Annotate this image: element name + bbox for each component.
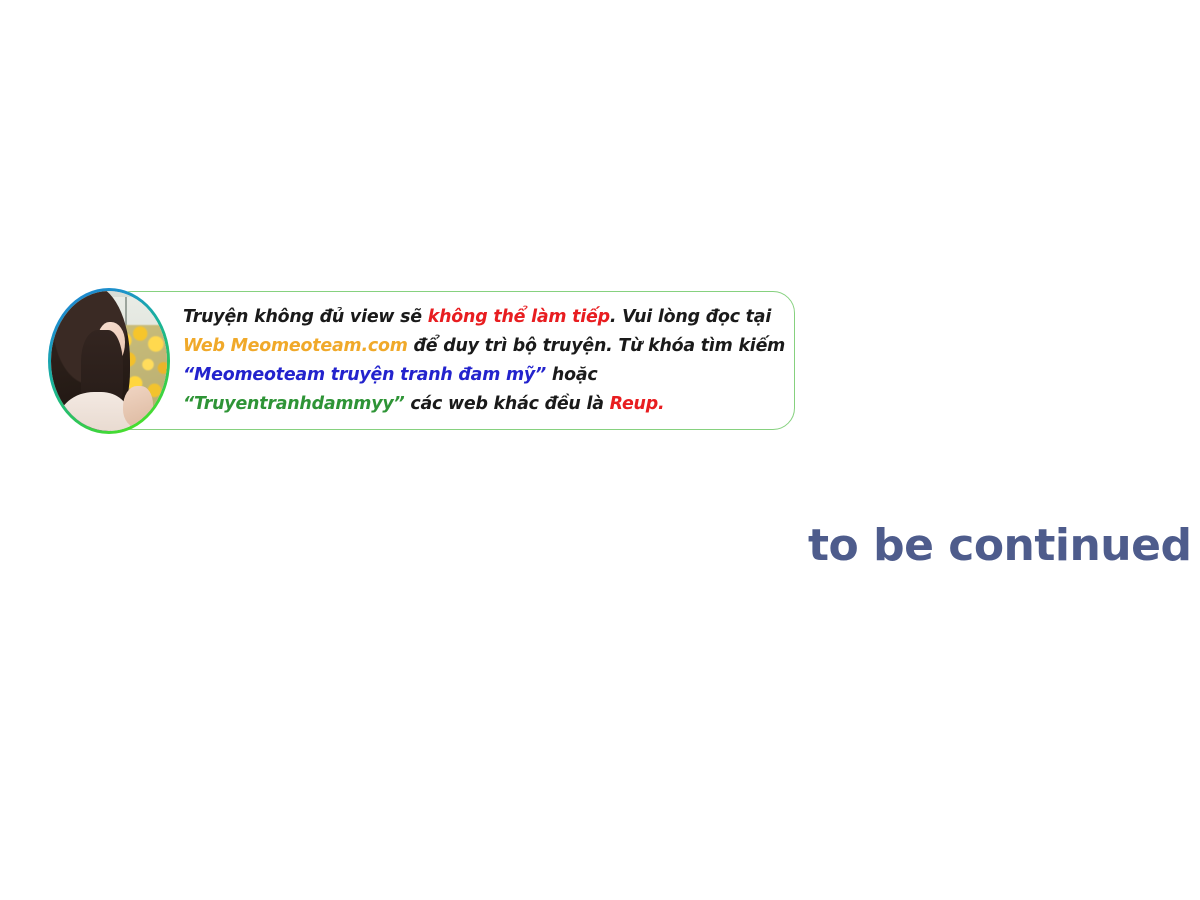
photo-hand [123, 386, 153, 428]
notice-line: Web Meomeoteam.com để duy trì bộ truyện.… [183, 332, 783, 361]
avatar [51, 291, 167, 431]
notice-text-segment: Truyện không đủ view sẽ [183, 307, 428, 327]
notice-text-segment: các web khác đều là [405, 394, 610, 414]
avatar-ring [48, 288, 170, 434]
notice-text-segment: hoặc [546, 365, 597, 385]
notice-text-segment: Reup. [610, 394, 665, 414]
notice-line: Truyện không đủ view sẽ không thể làm ti… [183, 303, 783, 332]
notice-line: “Truyentranhdammyy” các web khác đều là … [183, 390, 783, 419]
notice-text-segment: Web Meomeoteam.com [183, 336, 408, 356]
notice-text-block: Truyện không đủ view sẽ không thể làm ti… [183, 303, 783, 419]
to-be-continued-text: to be continued [808, 520, 1191, 571]
notice-text-segment: “Meomeoteam truyện tranh đam mỹ” [183, 365, 546, 385]
watermark-notice-bubble: Truyện không đủ view sẽ không thể làm ti… [110, 291, 795, 430]
notice-text-segment: “Truyentranhdammyy” [183, 394, 405, 414]
notice-line: “Meomeoteam truyện tranh đam mỹ” hoặc [183, 361, 783, 390]
notice-text-segment: . Vui lòng đọc tại [610, 307, 771, 327]
notice-text-segment: để duy trì bộ truyện. Từ khóa tìm kiếm [408, 336, 785, 356]
notice-text-segment: không thể làm tiếp [428, 307, 610, 327]
